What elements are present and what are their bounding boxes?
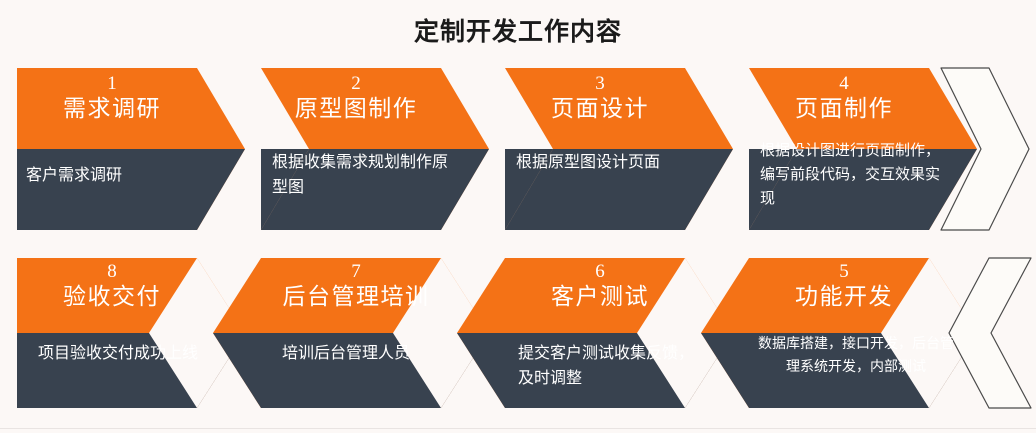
chevron-step-1[interactable] xyxy=(17,68,245,230)
step-description: 根据设计图进行页面制作，编写前段代码，交互效果实现 xyxy=(760,138,952,210)
end-marker-row-2 xyxy=(949,258,1031,408)
step-description: 根据原型图设计页面 xyxy=(516,149,702,174)
bottom-divider xyxy=(0,428,1036,429)
chevron-step-7[interactable] xyxy=(213,258,489,408)
step-description: 客户需求调研 xyxy=(26,162,206,187)
step-description: 项目验收交付成功上线 xyxy=(38,340,218,365)
step-description: 根据收集需求规划制作原型图 xyxy=(272,149,458,199)
step-description: 培训后台管理人员 xyxy=(282,340,468,365)
process-flow-diagram: 定制开发工作内容 xyxy=(0,0,1036,433)
step-description: 提交客户测试收集反馈，及时调整 xyxy=(518,340,708,390)
step-description: 数据库搭建，接口开发，后台管理系统开发，内部测试 xyxy=(756,333,956,379)
